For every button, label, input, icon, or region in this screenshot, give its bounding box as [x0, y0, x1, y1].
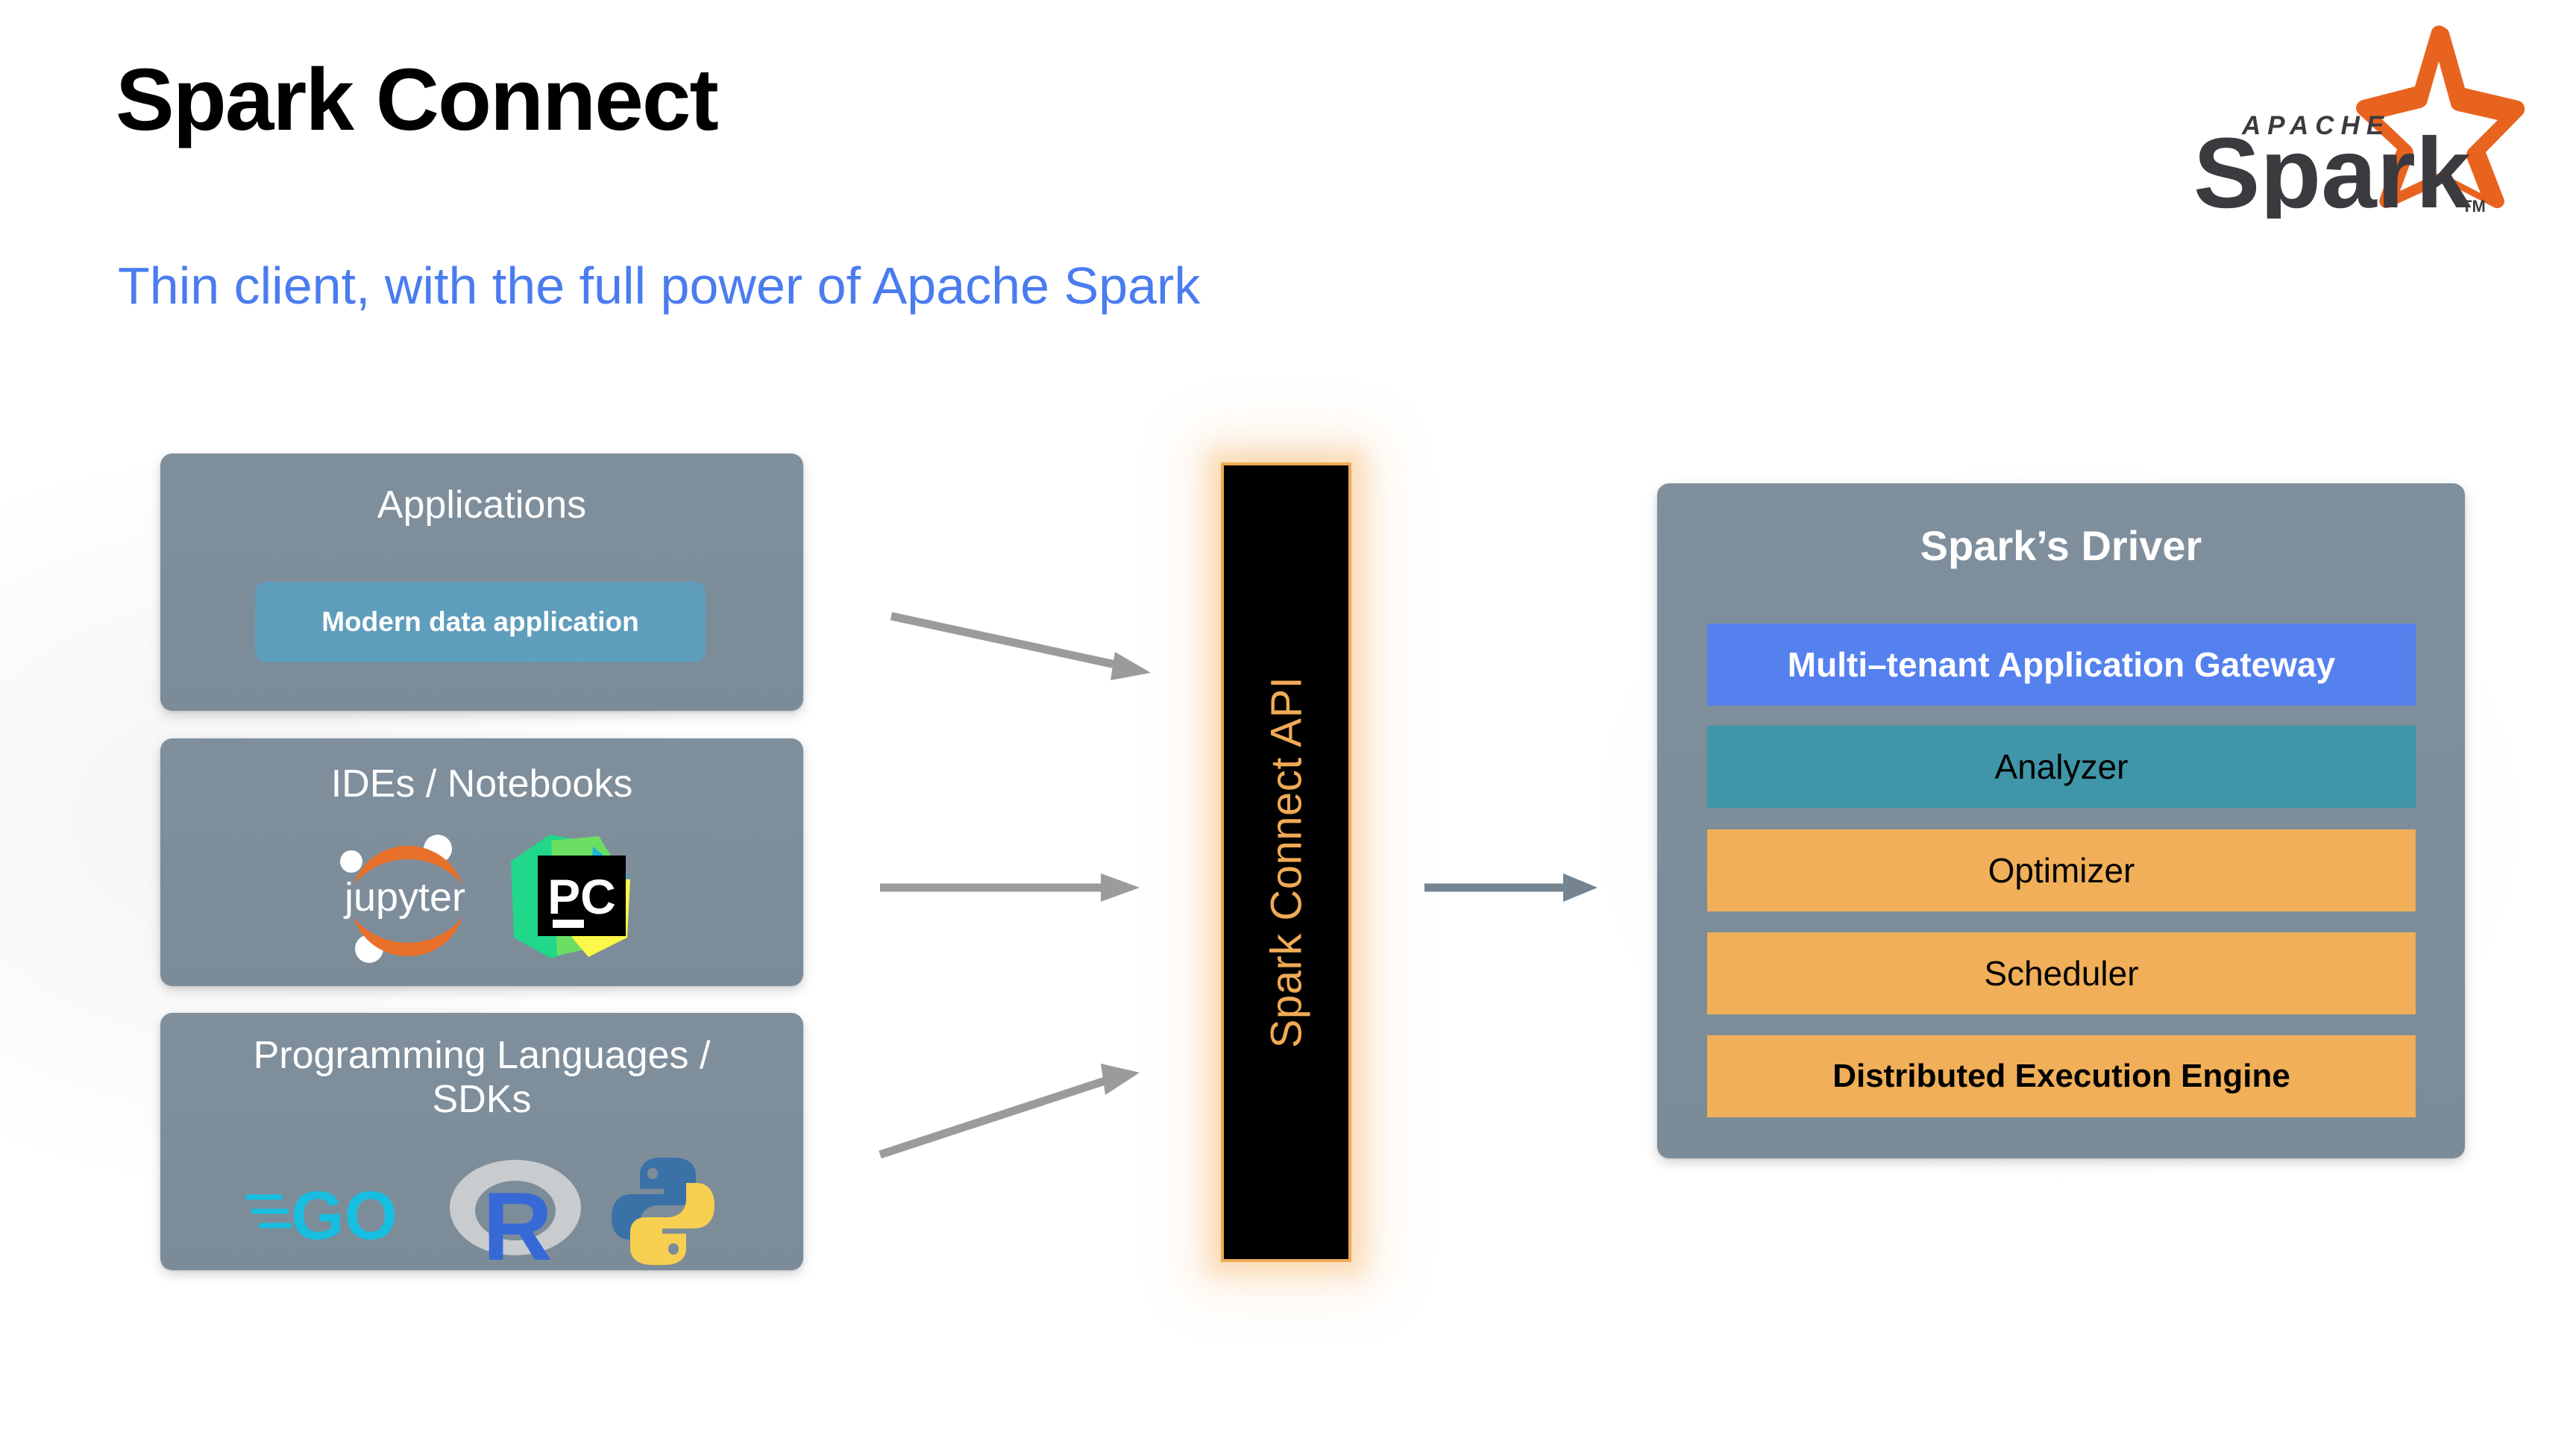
card-applications-title: Applications: [160, 483, 803, 527]
card-ides-notebooks[interactable]: IDEs / Notebooks jupyter PC: [160, 738, 803, 986]
card-programming-languages-title: Programming Languages / SDKs: [160, 1034, 803, 1123]
card-programming-languages[interactable]: Programming Languages / SDKs GO R: [160, 1013, 803, 1270]
driver-layer-optimizer[interactable]: Optimizer: [1707, 829, 2416, 911]
pycharm-logo: PC: [505, 833, 633, 961]
jupyter-dot-left: [340, 850, 362, 873]
arrow-applications-to-api: [891, 612, 1160, 709]
arrow-ides-to-api: [880, 865, 1156, 910]
go-speed-lines: [248, 1197, 289, 1225]
ide-logo-row: jupyter PC: [160, 826, 803, 968]
page-subtitle: Thin client, with the full power of Apac…: [118, 260, 1200, 312]
jupyter-wordmark: jupyter: [343, 875, 465, 920]
r-logo: R: [444, 1155, 586, 1267]
card-spark-driver-title: Spark’s Driver: [1657, 522, 2465, 570]
r-letter: R: [483, 1172, 553, 1267]
jupyter-logo: jupyter: [330, 826, 480, 968]
card-ides-notebooks-title: IDEs / Notebooks: [160, 762, 803, 806]
pycharm-underscore: [553, 920, 584, 928]
driver-layer-analyzer[interactable]: Analyzer: [1707, 726, 2416, 808]
spark-connect-api-bar[interactable]: Spark Connect API: [1221, 462, 1351, 1262]
card-applications[interactable]: Applications Modern data application: [160, 453, 803, 711]
card-programming-languages-title-line2: SDKs: [433, 1078, 532, 1121]
modern-data-application-chip[interactable]: Modern data application: [255, 582, 706, 662]
arrow-languages-to-api: [880, 1059, 1156, 1171]
language-logo-row: GO R: [160, 1155, 803, 1268]
card-spark-driver[interactable]: Spark’s Driver Multi–tenant Application …: [1657, 483, 2465, 1158]
page-title: Spark Connect: [116, 56, 717, 144]
go-wordmark: GO: [291, 1178, 398, 1252]
driver-layer-scheduler[interactable]: Scheduler: [1707, 932, 2416, 1014]
pycharm-pc-label: PC: [547, 869, 616, 924]
trademark-symbol: TM: [2462, 197, 2486, 216]
spark-wordmark: Spark: [2193, 118, 2472, 219]
apache-spark-logo: APACHE Spark TM: [2123, 21, 2525, 219]
driver-layer-gateway[interactable]: Multi–tenant Application Gateway: [1707, 624, 2416, 706]
arrow-api-to-driver: [1424, 865, 1611, 910]
spark-connect-api-label: Spark Connect API: [1261, 677, 1311, 1049]
card-programming-languages-title-line1: Programming Languages /: [254, 1034, 711, 1077]
driver-layer-distributed-execution-engine[interactable]: Distributed Execution Engine: [1707, 1035, 2416, 1117]
python-logo: [607, 1155, 719, 1268]
go-logo: GO: [245, 1170, 424, 1252]
